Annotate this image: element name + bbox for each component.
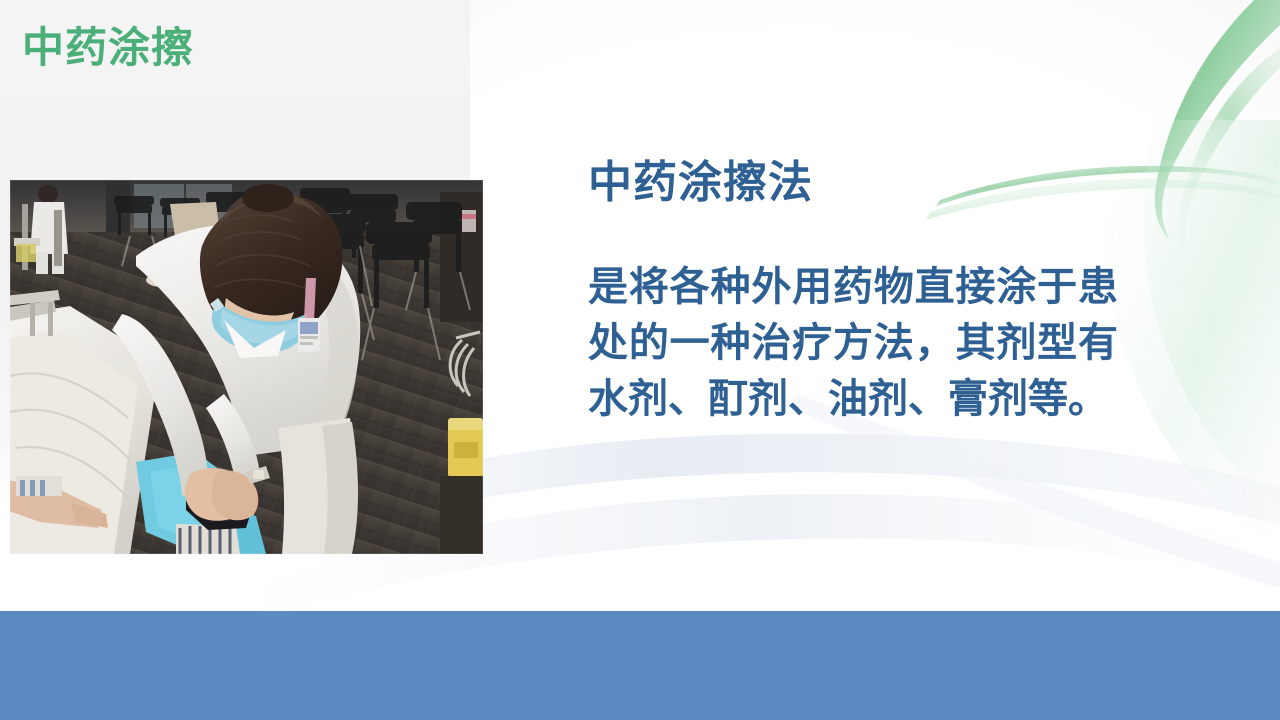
procedure-photo xyxy=(10,180,483,554)
photo-illustration xyxy=(10,180,483,554)
slide-canvas: 中药涂擦 xyxy=(0,0,1280,720)
page-title: 中药涂擦 xyxy=(22,24,194,72)
footer-bar xyxy=(0,611,1280,720)
content-text-column: 中药涂擦法 是将各种外用药物直接涂于患处的一种治疗方法，其剂型有水剂、酊剂、油剂… xyxy=(588,155,1148,427)
content-heading: 中药涂擦法 xyxy=(588,155,1148,211)
content-body-text: 是将各种外用药物直接涂于患处的一种治疗方法，其剂型有水剂、酊剂、油剂、膏剂等。 xyxy=(588,259,1118,427)
